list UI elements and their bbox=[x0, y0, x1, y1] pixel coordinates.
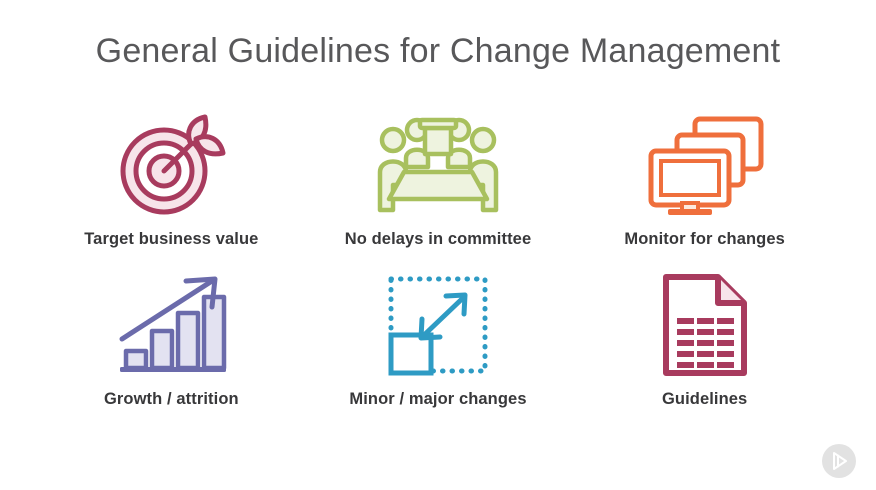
document-lines-icon bbox=[660, 274, 750, 376]
guideline-item-minor-major-changes[interactable]: Minor / major changes bbox=[305, 272, 572, 432]
guideline-label: Target business value bbox=[84, 230, 258, 249]
icon-container bbox=[386, 272, 490, 378]
guideline-item-guidelines[interactable]: Guidelines bbox=[571, 272, 838, 432]
slide-canvas: General Guidelines for Change Management… bbox=[0, 0, 876, 490]
resize-square-arrow-icon bbox=[386, 275, 490, 375]
guideline-label: Growth / attrition bbox=[104, 390, 239, 409]
growth-bar-chart-icon bbox=[116, 275, 226, 375]
guideline-item-growth-attrition[interactable]: Growth / attrition bbox=[38, 272, 305, 432]
page-title: General Guidelines for Change Management bbox=[0, 32, 876, 71]
guideline-label: Monitor for changes bbox=[624, 230, 785, 249]
target-arrow-icon bbox=[115, 113, 227, 217]
icon-container bbox=[375, 112, 501, 218]
icon-container bbox=[643, 112, 767, 218]
guideline-label: Minor / major changes bbox=[349, 390, 526, 409]
guideline-item-target-business-value[interactable]: Target business value bbox=[38, 112, 305, 272]
committee-meeting-icon bbox=[375, 115, 501, 215]
guideline-item-no-delays-in-committee[interactable]: No delays in committee bbox=[305, 112, 572, 272]
icon-container bbox=[116, 272, 226, 378]
guidelines-grid: Target business value bbox=[38, 112, 838, 432]
icon-container bbox=[115, 112, 227, 218]
watermark bbox=[822, 444, 856, 478]
stacked-monitors-icon bbox=[643, 115, 767, 215]
icon-container bbox=[660, 272, 750, 378]
guideline-label: No delays in committee bbox=[345, 230, 532, 249]
guideline-item-monitor-for-changes[interactable]: Monitor for changes bbox=[571, 112, 838, 272]
play-button-watermark-icon bbox=[822, 444, 856, 478]
guideline-label: Guidelines bbox=[662, 390, 747, 409]
